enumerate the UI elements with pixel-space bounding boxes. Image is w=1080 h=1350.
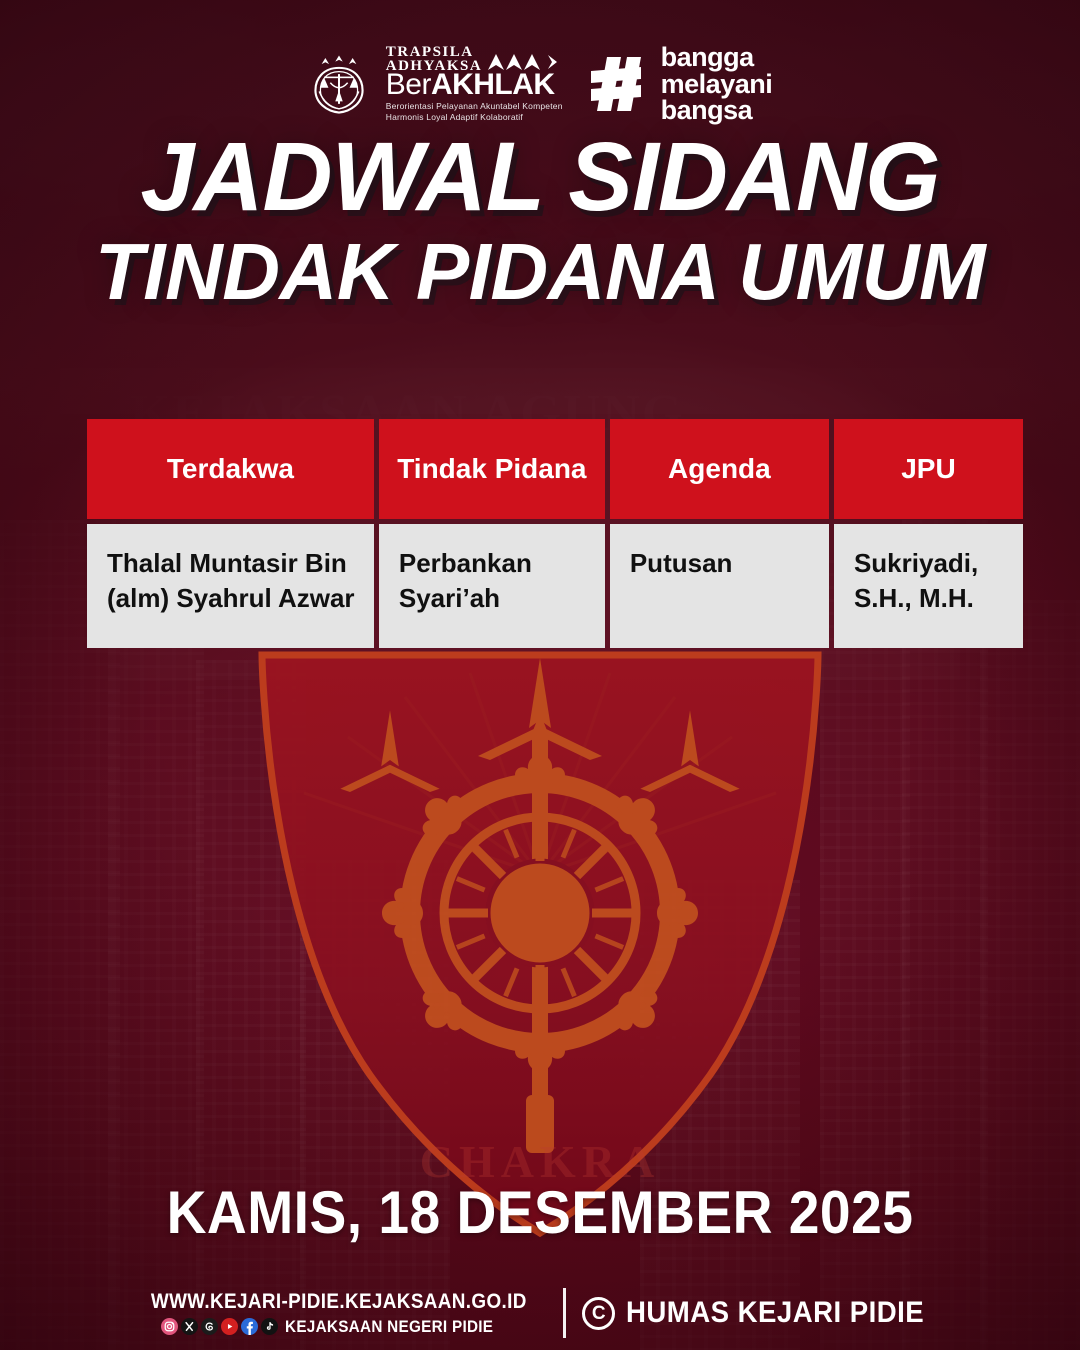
bangga-line3: bangsa: [661, 97, 773, 123]
bangga-melayani-bangsa-logo: bangga melayani bangsa: [661, 44, 773, 123]
cell-terdakwa: Thalal Muntasir Bin (alm) Syahrul Azwar: [87, 524, 374, 648]
berakhlak-tagline-2: Harmonis Loyal Adaptif Kolaboratif: [386, 112, 563, 123]
berakhlak-tagline-1: Berorientasi Pelayanan Akuntabel Kompete…: [386, 101, 563, 112]
credit-text: HUMAS KEJARI PIDIE: [626, 1296, 924, 1330]
youtube-icon[interactable]: [221, 1318, 238, 1335]
bangga-line2: melayani: [661, 71, 773, 97]
table-row: Thalal Muntasir Bin (alm) Syahrul Azwar …: [87, 524, 1023, 648]
instagram-icon[interactable]: [161, 1318, 178, 1335]
bangga-line1: bangga: [661, 44, 773, 70]
header-logo-bar: TRAPSILA ADHYAKSA BerAKHLAK Berorientasi…: [0, 38, 1080, 130]
column-header-terdakwa: Terdakwa: [87, 419, 374, 519]
footer-right-group: C HUMAS KEJARI PIDIE: [582, 1296, 950, 1330]
table-header-row: Terdakwa Tindak Pidana Agenda JPU: [87, 419, 1023, 519]
bangga-hash-icon: [589, 53, 643, 115]
social-row: KEJAKSAAN NEGERI PIDIE: [161, 1317, 516, 1337]
page-title: JADWAL SIDANG: [0, 128, 1080, 227]
hearing-date: KAMIS, 18 DESEMBER 2025: [43, 1178, 1037, 1247]
cell-agenda: Putusan: [610, 524, 829, 648]
column-header-agenda: Agenda: [610, 419, 829, 519]
footer-divider: [563, 1288, 566, 1338]
cell-tindak-pidana: Perbankan Syari’ah: [379, 524, 605, 648]
kejaksaan-seal-icon: [308, 53, 370, 115]
social-icons-group: [161, 1318, 278, 1335]
cell-jpu: Sukriyadi, S.H., M.H.: [834, 524, 1023, 648]
organization-name: KEJAKSAAN NEGERI PIDIE: [285, 1317, 493, 1337]
page-subtitle: TINDAK PIDANA UMUM: [0, 231, 1080, 313]
threads-icon[interactable]: [201, 1318, 218, 1335]
facebook-icon[interactable]: [241, 1318, 258, 1335]
schedule-table: Terdakwa Tindak Pidana Agenda JPU Thalal…: [82, 414, 1028, 653]
page-title-block: JADWAL SIDANG TINDAK PIDANA UMUM: [0, 128, 1080, 313]
copyright-icon: C: [582, 1297, 615, 1330]
berakhlak-suffix: AKHLAK: [431, 68, 555, 101]
berakhlak-prefix: Ber: [386, 68, 431, 101]
berakhlak-logo: TRAPSILA ADHYAKSA BerAKHLAK Berorientasi…: [386, 46, 563, 122]
tiktok-icon[interactable]: [261, 1318, 278, 1335]
website-url[interactable]: WWW.KEJARI-PIDIE.KEJAKSAAN.GO.ID: [151, 1290, 527, 1314]
schedule-table-wrapper: Terdakwa Tindak Pidana Agenda JPU Thalal…: [82, 414, 1028, 653]
x-twitter-icon[interactable]: [181, 1318, 198, 1335]
column-header-jpu: JPU: [834, 419, 1023, 519]
footer-left-group: WWW.KEJARI-PIDIE.KEJAKSAAN.GO.ID: [130, 1290, 548, 1337]
column-header-tindak-pidana: Tindak Pidana: [379, 419, 605, 519]
footer-bar: WWW.KEJARI-PIDIE.KEJAKSAAN.GO.ID: [0, 1288, 1080, 1338]
